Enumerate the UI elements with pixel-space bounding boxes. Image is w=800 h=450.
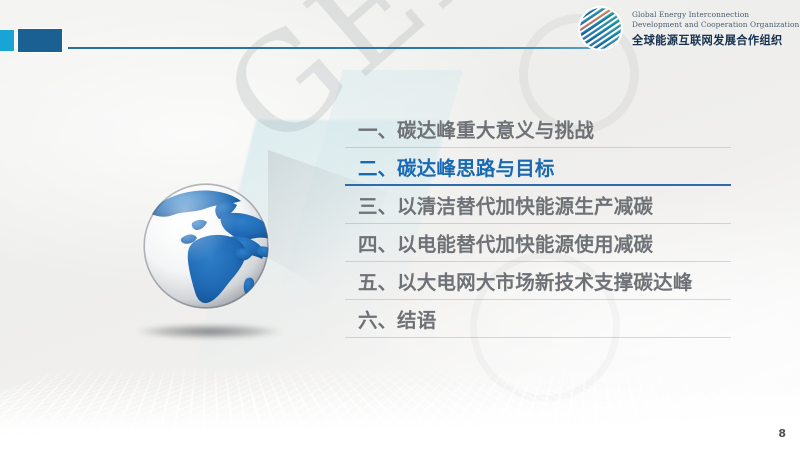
agenda-item-1-label: 碳达峰重大意义与挑战 [397,114,594,143]
agenda-item-3-number: 三、 [345,190,397,219]
agenda-item-4-label: 以电能替代加快能源使用减碳 [397,228,653,257]
agenda-item-5[interactable]: 五、 以大电网大市场新技术支撑碳达峰 [345,262,731,300]
globe-drop-shadow [136,324,282,339]
logo-chinese-name: 全球能源互联网发展合作组织 [632,32,799,48]
agenda-item-2[interactable]: 二、 碳达峰思路与目标 [345,148,731,186]
organization-logo: Global Energy Interconnection Developmen… [578,6,799,51]
agenda-item-6[interactable]: 六、 结语 [345,300,731,338]
agenda-item-4-number: 四、 [345,228,397,257]
agenda-item-2-number: 二、 [345,152,397,181]
geidco-globe-logo-icon [578,6,623,51]
agenda-item-6-label: 结语 [397,304,436,333]
logo-english-line-1: Global Energy Interconnection [632,10,799,20]
logo-english-line-2: Development and Cooperation Organization [632,20,799,30]
presentation-slide: GEIDCO [0,0,800,450]
agenda-item-2-label: 碳达峰思路与目标 [397,152,555,181]
agenda-item-3-label: 以清洁替代加快能源生产减碳 [397,190,653,219]
background-bottom-fade [0,380,800,450]
header-accent-square-light [0,29,15,52]
header-accent-square-dark [17,28,63,53]
logo-text-block: Global Energy Interconnection Developmen… [632,9,799,47]
agenda-list: 一、 碳达峰重大意义与挑战 二、 碳达峰思路与目标 三、 以清洁替代加快能源生产… [345,110,731,338]
page-number: 8 [778,427,786,440]
agenda-item-6-number: 六、 [345,304,397,333]
agenda-item-5-number: 五、 [345,266,397,295]
agenda-item-4[interactable]: 四、 以电能替代加快能源使用减碳 [345,224,731,262]
agenda-item-5-label: 以大电网大市场新技术支撑碳达峰 [397,266,693,295]
agenda-item-3[interactable]: 三、 以清洁替代加快能源生产减碳 [345,186,731,224]
agenda-item-1-number: 一、 [345,114,397,143]
world-globe-image [133,175,279,321]
agenda-item-1[interactable]: 一、 碳达峰重大意义与挑战 [345,110,731,148]
header-horizontal-rule [68,47,600,49]
